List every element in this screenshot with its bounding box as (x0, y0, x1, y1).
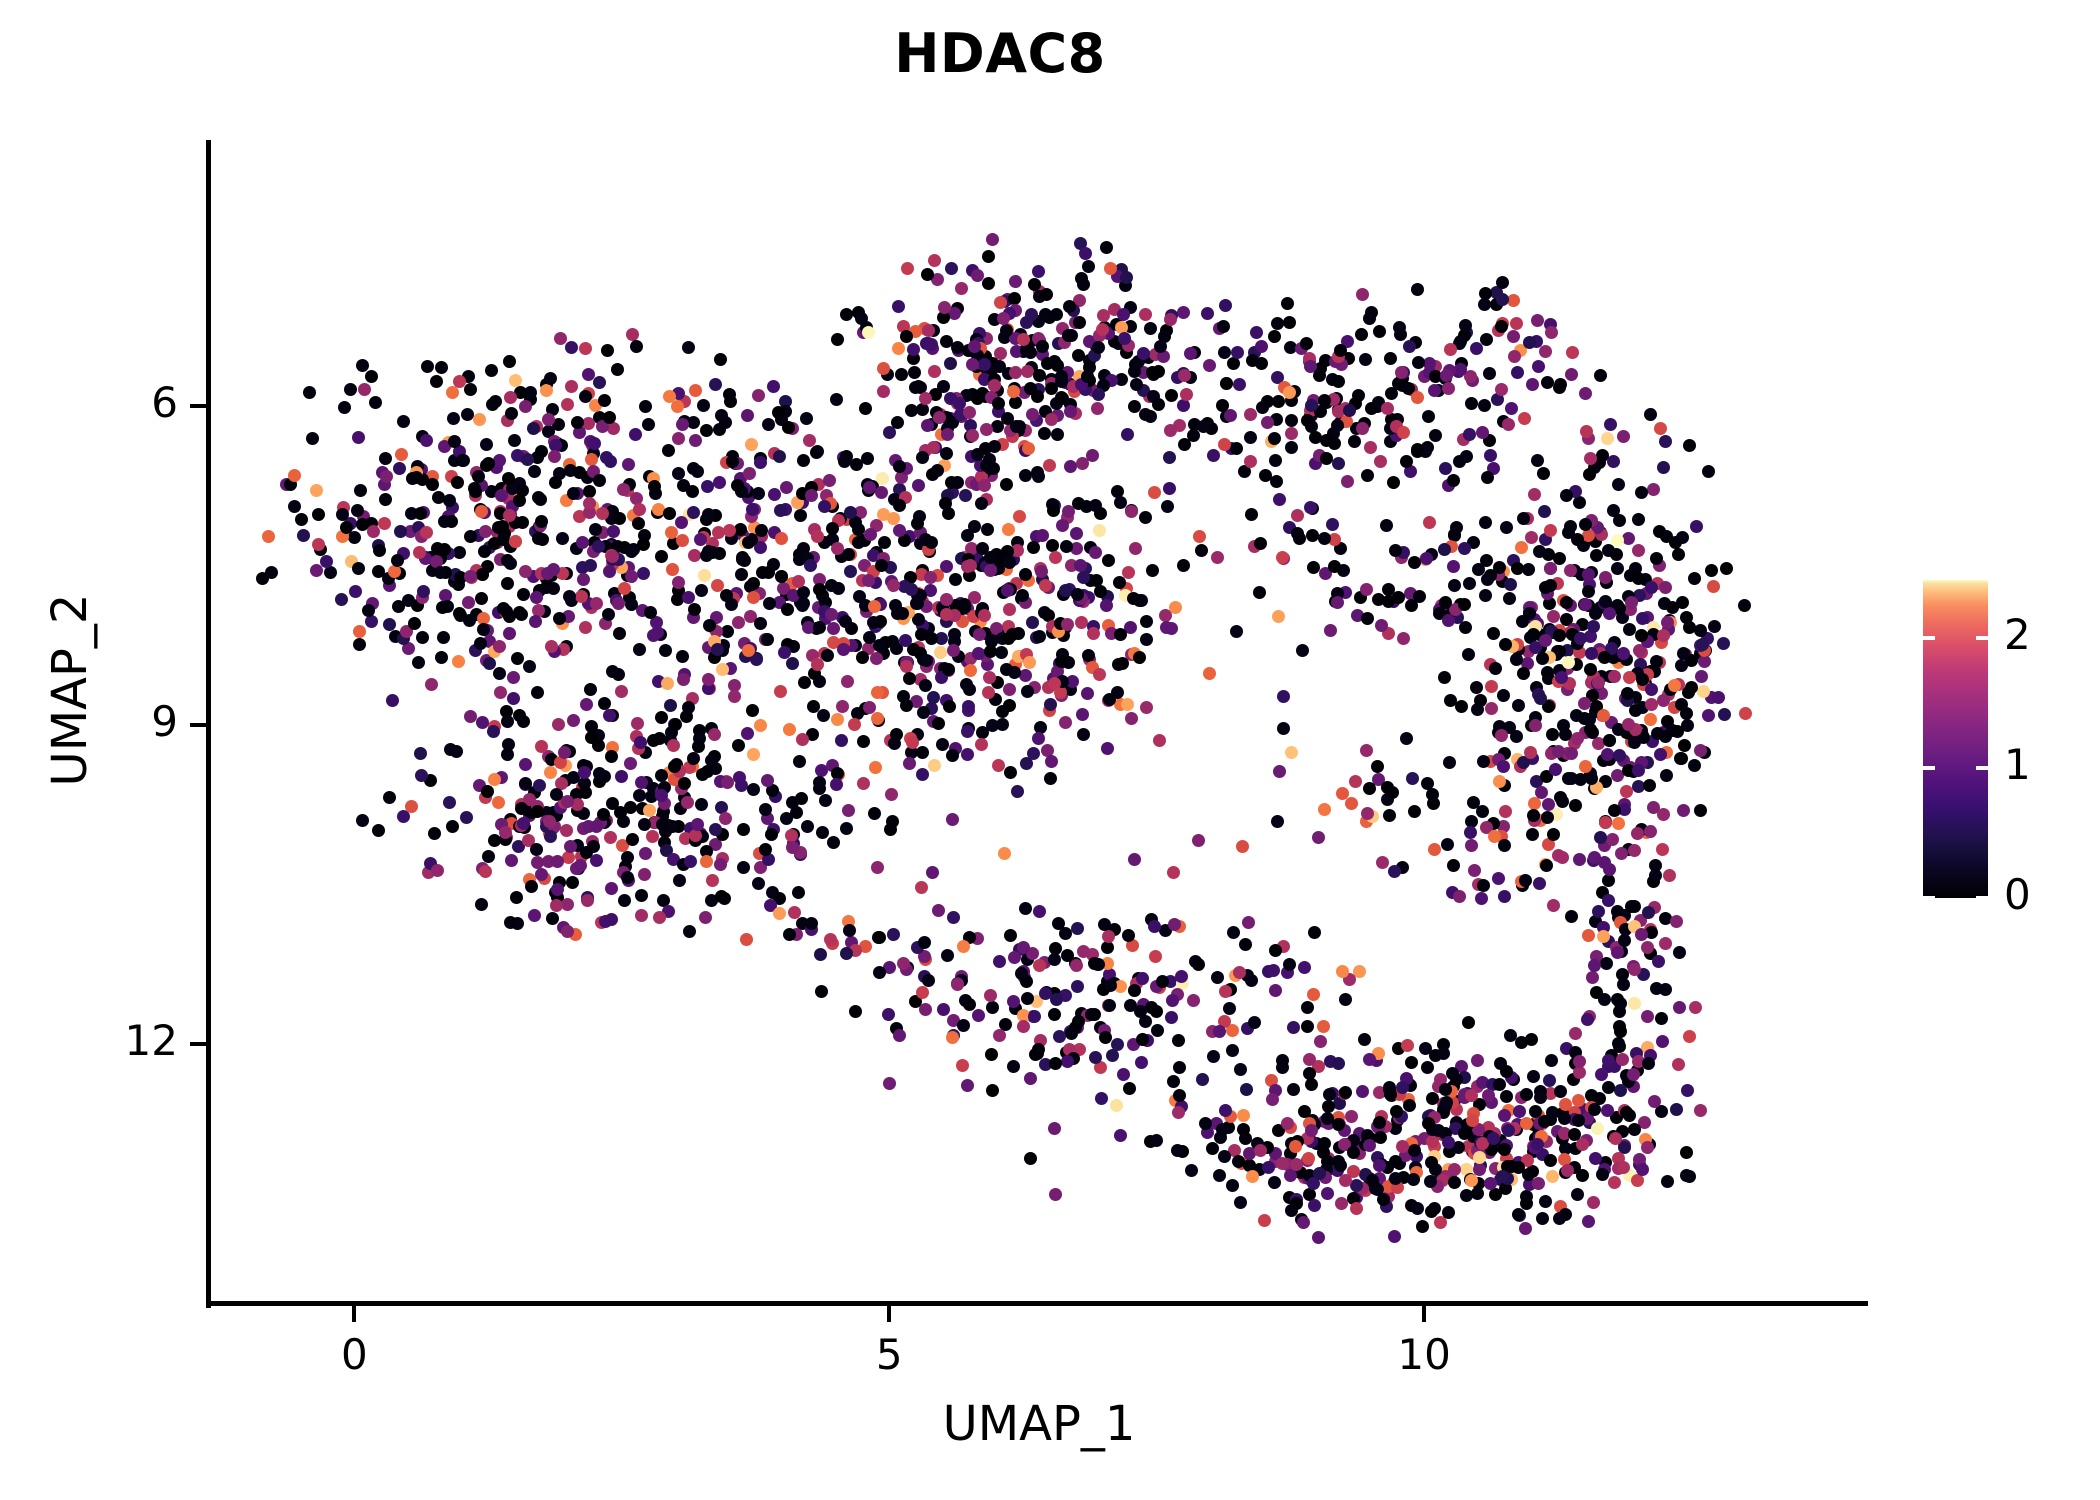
scatter-point (1285, 414, 1298, 427)
scatter-point (1582, 1215, 1595, 1228)
scatter-point (1534, 692, 1547, 705)
scatter-point (1677, 804, 1690, 817)
scatter-point (1216, 399, 1229, 412)
scatter-point (626, 833, 639, 846)
scatter-point (352, 431, 365, 444)
scatter-point (713, 476, 726, 489)
scatter-point (452, 655, 465, 668)
scatter-point (1388, 865, 1401, 878)
scatter-point (1553, 552, 1566, 565)
scatter-point (369, 396, 382, 409)
scatter-point (416, 631, 429, 644)
scatter-point (630, 340, 643, 353)
scatter-point (1480, 554, 1493, 567)
scatter-point (1720, 562, 1733, 575)
scatter-point (1598, 651, 1611, 664)
scatter-point (1192, 834, 1205, 847)
scatter-point (1380, 519, 1393, 532)
scatter-point (618, 582, 631, 595)
scatter-point (1573, 496, 1586, 509)
scatter-point (752, 389, 765, 402)
x-tick-label: 0 (284, 1330, 424, 1379)
scatter-point (842, 804, 855, 817)
scatter-point (1004, 929, 1017, 942)
x-tick-mark (887, 1306, 891, 1322)
scatter-point (1383, 1083, 1396, 1096)
scatter-point (1055, 655, 1068, 668)
scatter-point (817, 709, 830, 722)
scatter-point (794, 509, 807, 522)
scatter-point (1589, 607, 1602, 620)
scatter-point (488, 773, 501, 786)
scatter-point (615, 770, 628, 783)
scatter-point (1361, 469, 1374, 482)
scatter-point (1184, 347, 1197, 360)
scatter-point (530, 843, 543, 856)
scatter-point (1500, 521, 1513, 534)
scatter-point (505, 407, 518, 420)
scatter-point (900, 330, 913, 343)
scatter-point (1510, 730, 1523, 743)
scatter-point (905, 583, 918, 596)
scatter-point (613, 627, 626, 640)
scatter-point (836, 700, 849, 713)
scatter-point (1103, 693, 1116, 706)
scatter-point (405, 800, 418, 813)
scatter-point (1547, 828, 1560, 841)
scatter-point (824, 933, 837, 946)
scatter-point (1268, 330, 1281, 343)
scatter-point (1056, 519, 1069, 532)
scatter-point (1082, 260, 1095, 273)
scatter-point (662, 444, 675, 457)
scatter-point (1617, 1161, 1630, 1174)
scatter-point (621, 871, 634, 884)
colorbar-tick-label: 0 (2004, 870, 2074, 919)
scatter-point (1614, 1084, 1627, 1097)
scatter-point (1573, 853, 1586, 866)
scatter-point (1671, 725, 1684, 738)
scatter-point (666, 563, 679, 576)
scatter-point (1611, 993, 1624, 1006)
scatter-point (1396, 1081, 1409, 1094)
scatter-point (1045, 413, 1058, 426)
scatter-point (780, 812, 793, 825)
scatter-point (354, 484, 367, 497)
scatter-point (992, 397, 1005, 410)
scatter-point (745, 438, 758, 451)
scatter-point (785, 829, 798, 842)
scatter-point (1615, 847, 1628, 860)
scatter-point (1566, 346, 1579, 359)
scatter-point (869, 761, 882, 774)
scatter-point (1672, 1058, 1685, 1071)
scatter-point (897, 957, 910, 970)
scatter-point (1543, 1074, 1556, 1087)
scatter-point (1285, 746, 1298, 759)
scatter-point (1428, 384, 1441, 397)
scatter-point (1361, 807, 1374, 820)
scatter-point (877, 362, 890, 375)
scatter-point (1437, 1047, 1450, 1060)
scatter-point (940, 593, 953, 606)
scatter-point (413, 546, 426, 559)
scatter-point (1438, 543, 1451, 556)
scatter-point (493, 640, 506, 653)
scatter-point (819, 794, 832, 807)
scatter-point (1553, 1212, 1566, 1225)
scatter-point (493, 667, 506, 680)
scatter-point (1140, 633, 1153, 646)
scatter-point (1276, 1157, 1289, 1170)
scatter-point (365, 370, 378, 383)
scatter-point (578, 766, 591, 779)
scatter-point (1453, 890, 1466, 903)
scatter-point (515, 802, 528, 815)
scatter-point (356, 814, 369, 827)
scatter-point (462, 596, 475, 609)
scatter-point (1150, 1005, 1163, 1018)
scatter-point (938, 301, 951, 314)
scatter-point (1203, 359, 1216, 372)
scatter-point (517, 588, 530, 601)
scatter-point (483, 657, 496, 670)
scatter-point (1448, 1163, 1461, 1176)
scatter-point (743, 467, 756, 480)
scatter-point (676, 534, 689, 547)
scatter-point (941, 428, 954, 441)
scatter-point (1376, 856, 1389, 869)
scatter-point (344, 383, 357, 396)
scatter-point (1537, 467, 1550, 480)
scatter-point (1413, 590, 1426, 603)
scatter-point (655, 769, 668, 782)
scatter-point (1500, 1090, 1513, 1103)
scatter-point (826, 522, 839, 535)
scatter-point (1603, 863, 1616, 876)
scatter-point (762, 418, 775, 431)
scatter-point (946, 749, 959, 762)
colorbar-tick-label: 2 (2004, 610, 2074, 659)
scatter-point (533, 779, 546, 792)
scatter-point (1512, 699, 1525, 712)
scatter-point (589, 523, 602, 536)
scatter-point (1230, 442, 1243, 455)
scatter-point (312, 508, 325, 521)
scatter-point (1171, 1144, 1184, 1157)
scatter-point (1405, 1056, 1418, 1069)
scatter-point (1592, 676, 1605, 689)
scatter-point (1573, 1055, 1586, 1068)
scatter-point (1611, 562, 1624, 575)
scatter-point (1059, 584, 1072, 597)
scatter-point (473, 413, 486, 426)
scatter-point (1381, 781, 1394, 794)
scatter-point (1195, 544, 1208, 557)
scatter-point (848, 718, 861, 731)
scatter-point (1003, 556, 1016, 569)
scatter-point (507, 692, 520, 705)
scatter-point (571, 416, 584, 429)
scatter-point (1049, 1057, 1062, 1070)
scatter-point (940, 447, 953, 460)
scatter-point (583, 497, 596, 510)
scatter-point (618, 894, 631, 907)
scatter-point (781, 603, 794, 616)
scatter-point (937, 1003, 950, 1016)
scatter-point (607, 525, 620, 538)
scatter-point (1334, 1159, 1347, 1172)
scatter-point (1253, 586, 1266, 599)
scatter-point (1349, 775, 1362, 788)
scatter-point (1227, 926, 1240, 939)
scatter-point (1463, 577, 1476, 590)
scatter-point (676, 418, 689, 431)
scatter-point (446, 820, 459, 833)
scatter-point (1442, 382, 1455, 395)
scatter-point (581, 894, 594, 907)
scatter-point (861, 452, 874, 465)
x-tick-mark (1422, 1306, 1426, 1322)
scatter-point (340, 521, 353, 534)
scatter-point (1003, 683, 1016, 696)
scatter-point (1655, 1012, 1668, 1025)
scatter-point (1020, 975, 1033, 988)
scatter-point (1164, 313, 1177, 326)
scatter-point (529, 615, 542, 628)
scatter-point (1654, 748, 1667, 761)
scatter-point (852, 536, 865, 549)
scatter-point (435, 361, 448, 374)
scatter-point (1429, 429, 1442, 442)
scatter-point (1628, 1123, 1641, 1136)
scatter-point (893, 499, 906, 512)
scatter-point (351, 504, 364, 517)
scatter-point (551, 883, 564, 896)
scatter-point (1201, 307, 1214, 320)
scatter-point (527, 422, 540, 435)
scatter-point (1586, 971, 1599, 984)
scatter-point (1269, 984, 1282, 997)
scatter-point (1031, 390, 1044, 403)
scatter-point (1635, 486, 1648, 499)
scatter-point (1167, 866, 1180, 879)
scatter-point (1670, 1103, 1683, 1116)
scatter-point (1384, 352, 1397, 365)
scatter-point (888, 737, 901, 750)
scatter-point (1583, 468, 1596, 481)
colorbar-tick-label: 1 (2004, 740, 2074, 789)
scatter-point (1545, 326, 1558, 339)
scatter-point (544, 372, 557, 385)
scatter-point (972, 647, 985, 660)
scatter-point (588, 437, 601, 450)
scatter-point (1364, 441, 1377, 454)
scatter-point (1144, 322, 1157, 335)
scatter-point (1234, 1196, 1247, 1209)
scatter-point (1647, 483, 1660, 496)
scatter-point (1021, 685, 1034, 698)
scatter-point (941, 949, 954, 962)
scatter-point (383, 618, 396, 631)
scatter-point (1497, 760, 1510, 773)
scatter-point (1411, 1202, 1424, 1215)
scatter-point (669, 718, 682, 731)
scatter-point (1614, 1025, 1627, 1038)
scatter-point (637, 538, 650, 551)
scatter-point (919, 1003, 932, 1016)
scatter-point (1165, 389, 1178, 402)
scatter-point (927, 691, 940, 704)
scatter-point (1694, 624, 1707, 637)
scatter-point (1683, 1030, 1696, 1043)
scatter-point (975, 738, 988, 751)
scatter-point (1313, 1167, 1326, 1180)
scatter-point (813, 621, 826, 634)
scatter-point (1529, 719, 1542, 732)
scatter-point (761, 633, 774, 646)
scatter-point (394, 525, 407, 538)
scatter-point (1308, 1199, 1321, 1212)
scatter-point (1517, 667, 1530, 680)
scatter-point (605, 750, 618, 763)
scatter-point (310, 564, 323, 577)
scatter-point (523, 660, 536, 673)
scatter-point (1149, 950, 1162, 963)
scatter-point (1594, 369, 1607, 382)
scatter-point (1085, 1008, 1098, 1021)
scatter-point (1234, 1063, 1247, 1076)
scatter-point (735, 779, 748, 792)
scatter-point (1482, 1089, 1495, 1102)
scatter-point (695, 798, 708, 811)
scatter-point (1059, 716, 1072, 729)
scatter-point (1569, 1027, 1582, 1040)
scatter-point (380, 470, 393, 483)
scatter-point (1261, 416, 1274, 429)
scatter-point (871, 861, 884, 874)
scatter-point (971, 448, 984, 461)
scatter-point (1673, 946, 1686, 959)
scatter-point (425, 678, 438, 691)
scatter-point (1608, 670, 1621, 683)
scatter-point (1339, 1086, 1352, 1099)
scatter-point (840, 308, 853, 321)
scatter-point (1020, 757, 1033, 770)
scatter-point (1123, 1082, 1136, 1095)
scatter-point (1428, 843, 1441, 856)
scatter-point (1373, 1159, 1386, 1172)
scatter-point (528, 465, 541, 478)
scatter-point (1518, 412, 1531, 425)
scatter-point (691, 818, 704, 831)
scatter-point (1450, 521, 1463, 534)
scatter-point (1033, 369, 1046, 382)
scatter-point (1239, 938, 1252, 951)
scatter-point (531, 686, 544, 699)
scatter-point (932, 904, 945, 917)
scatter-point (1495, 383, 1508, 396)
scatter-point (786, 657, 799, 670)
scatter-point (1498, 1143, 1511, 1156)
scatter-point (887, 579, 900, 592)
scatter-point (1246, 1170, 1259, 1183)
y-tick-mark (190, 404, 206, 408)
scatter-point (1223, 1002, 1236, 1015)
scatter-point (1007, 995, 1020, 1008)
scatter-point (773, 450, 786, 463)
scatter-point (1496, 276, 1509, 289)
scatter-point (1101, 941, 1114, 954)
scatter-point (1702, 709, 1715, 722)
scatter-point (1401, 1039, 1414, 1052)
scatter-point (1622, 718, 1635, 731)
scatter-point (768, 488, 781, 501)
scatter-point (590, 820, 603, 833)
scatter-point (1448, 579, 1461, 592)
scatter-point (1093, 668, 1106, 681)
scatter-point (1553, 381, 1566, 394)
scatter-point (875, 486, 888, 499)
scatter-point (831, 333, 844, 346)
scatter-point (709, 378, 722, 391)
scatter-point (732, 616, 745, 629)
scatter-point (635, 776, 648, 789)
scatter-point (648, 480, 661, 493)
scatter-point (438, 543, 451, 556)
scatter-point (1447, 859, 1460, 872)
scatter-point (711, 643, 724, 656)
scatter-point (535, 515, 548, 528)
scatter-point (919, 392, 932, 405)
scatter-point (1531, 454, 1544, 467)
scatter-point (1317, 1020, 1330, 1033)
x-tick-label: 5 (819, 1330, 959, 1379)
scatter-point (1332, 1057, 1345, 1070)
scatter-point (844, 506, 857, 519)
scatter-point (303, 386, 316, 399)
scatter-point (961, 1079, 974, 1092)
y-axis-label: UMAP_2 (42, 340, 98, 1040)
scatter-point (1285, 441, 1298, 454)
scatter-point (386, 694, 399, 707)
scatter-point (604, 455, 617, 468)
scatter-point (604, 831, 617, 844)
scatter-point (1283, 958, 1296, 971)
scatter-point (840, 947, 853, 960)
scatter-point (1232, 1155, 1245, 1168)
scatter-point (1545, 1054, 1558, 1067)
scatter-point (993, 1029, 1006, 1042)
scatter-point (1396, 1140, 1409, 1153)
scatter-point (1652, 955, 1665, 968)
scatter-point (993, 955, 1006, 968)
scatter-point (1003, 603, 1016, 616)
scatter-point (1207, 449, 1220, 462)
scatter-point (1588, 959, 1601, 972)
scatter-point (1244, 408, 1257, 421)
scatter-point (875, 559, 888, 572)
scatter-point (946, 1031, 959, 1044)
scatter-point (1603, 734, 1616, 747)
scatter-point (1610, 548, 1623, 561)
scatter-point (1475, 892, 1488, 905)
scatter-point (1335, 1197, 1348, 1210)
scatter-point (1227, 357, 1240, 370)
scatter-point (1072, 349, 1085, 362)
scatter-point (983, 671, 996, 684)
scatter-point (1281, 297, 1294, 310)
